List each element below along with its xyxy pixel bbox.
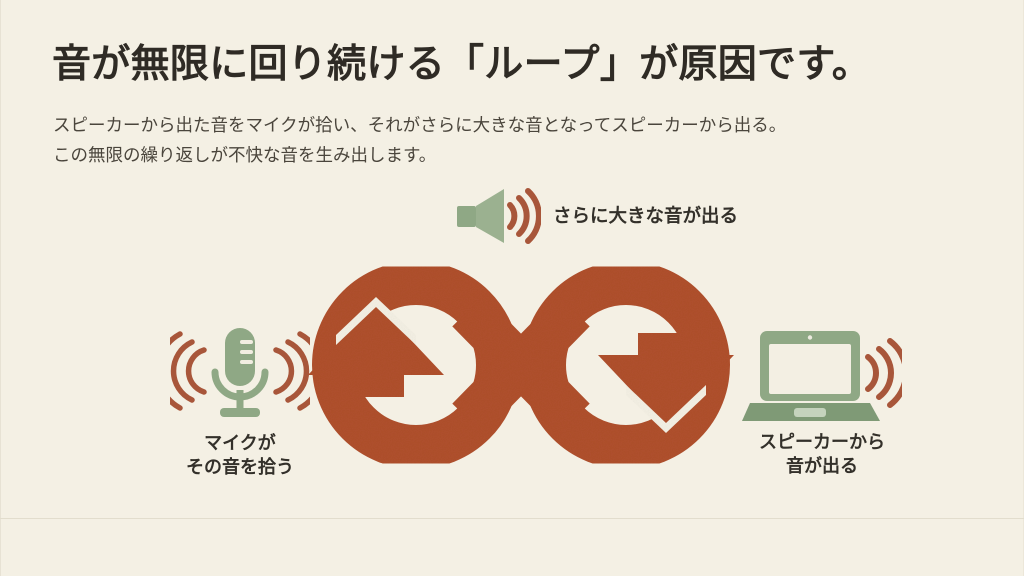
node-laptop: スピーカーから 音が出る — [722, 325, 922, 479]
microphone-icon-glyph — [170, 320, 310, 424]
footer-divider — [0, 518, 1024, 519]
speaker-icon-glyph — [455, 187, 541, 245]
infinity-loop-graphic — [296, 245, 746, 485]
page-subtitle: スピーカーから出た音をマイクが拾い、それがさらに大きな音となってスピーカーから出… — [53, 110, 933, 170]
microphone-icon — [150, 320, 330, 424]
speaker-label: さらに大きな音が出る — [553, 204, 738, 228]
subtitle-line-1: スピーカーから出た音をマイクが拾い、それがさらに大きな音となってスピーカーから出… — [53, 110, 933, 140]
laptop-label: スピーカーから 音が出る — [722, 431, 922, 479]
laptop-label-line-1: スピーカーから — [722, 431, 922, 455]
feedback-loop-diagram: さらに大きな音が出る — [0, 175, 1024, 505]
subtitle-line-2: この無限の繰り返しが不快な音を生み出します。 — [53, 140, 933, 170]
slide-canvas: 音が無限に回り続ける「ループ」が原因です。 スピーカーから出た音をマイクが拾い、… — [0, 0, 1024, 576]
speaker-label-line-1: さらに大きな音が出る — [553, 204, 738, 228]
microphone-label-line-2: その音を拾う — [150, 456, 330, 480]
page-title: 音が無限に回り続ける「ループ」が原因です。 — [52, 40, 952, 90]
laptop-icon-glyph — [742, 325, 902, 425]
speaker-icon — [455, 187, 541, 245]
node-microphone: マイクが その音を拾う — [150, 320, 330, 480]
laptop-icon — [722, 325, 922, 425]
microphone-label-line-1: マイクが — [150, 432, 330, 456]
node-speaker: さらに大きな音が出る — [455, 187, 815, 245]
laptop-label-line-2: 音が出る — [722, 455, 922, 479]
loop-body — [308, 283, 734, 447]
microphone-label: マイクが その音を拾う — [150, 432, 330, 480]
